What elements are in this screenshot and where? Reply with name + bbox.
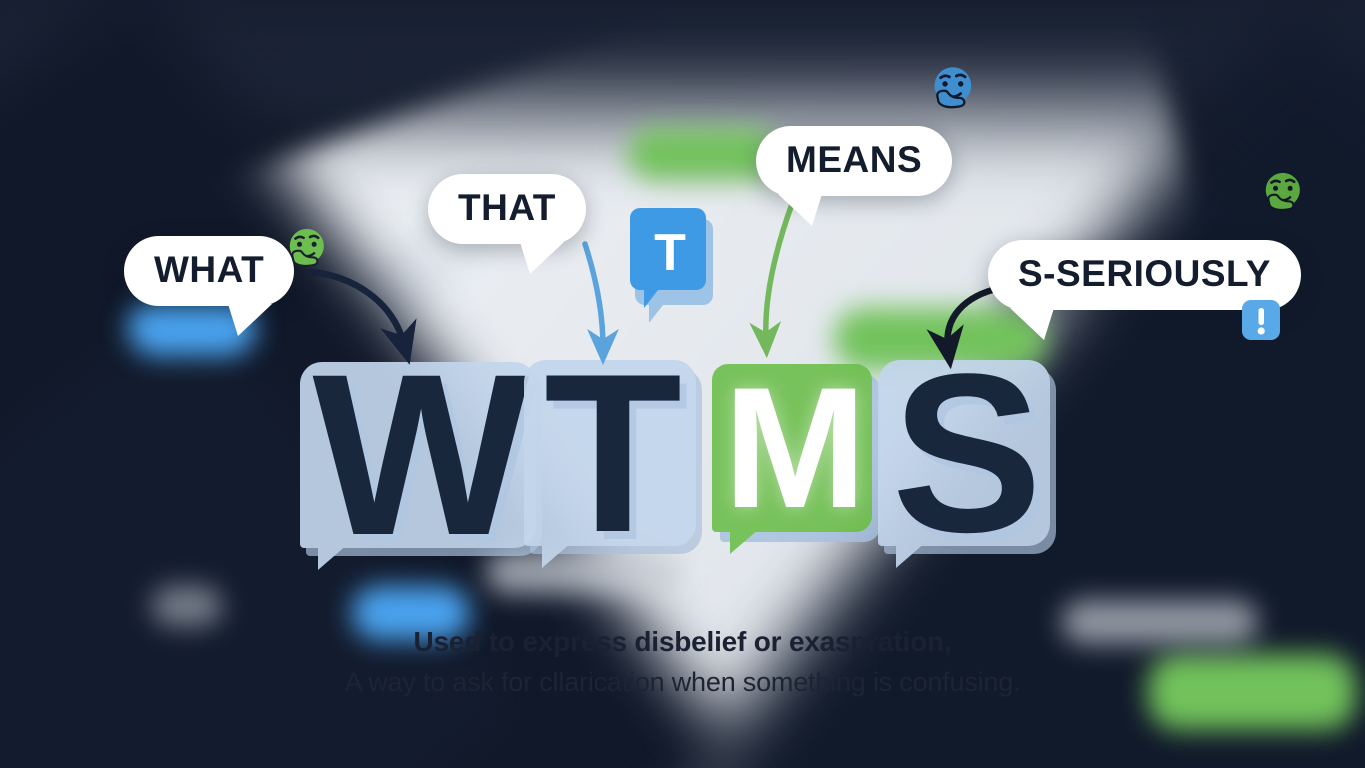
bubble-tail (228, 304, 272, 336)
letter-glyph-w: W (300, 362, 536, 548)
acronym-letter-t: T (524, 360, 696, 546)
letter-glyph-s: S (878, 360, 1050, 546)
bubble-tail (778, 194, 822, 226)
caption-line-1: Used to express disbelief or exaspration… (0, 626, 1365, 658)
acronym-letter-m: M (712, 364, 872, 532)
caption-line-2: A way to ask for cllarication when somet… (0, 667, 1365, 698)
ghost-chat-text (152, 586, 222, 626)
svg-text:T: T (654, 224, 686, 282)
caption-block: Used to express disbelief or exaspration… (0, 626, 1365, 698)
chat-bubble-t-icon: T (630, 204, 714, 322)
thinking-face-emoji (1256, 168, 1308, 220)
speech-bubble-that-label: THAT (458, 187, 556, 228)
speech-bubble-what[interactable]: WHAT (124, 236, 294, 306)
speech-bubble-seriously-label: S-SERIOUSLY (1018, 253, 1271, 294)
bubble-tail (1010, 308, 1054, 340)
letter-glyph-m: M (712, 364, 872, 532)
bubble-tail (520, 242, 564, 274)
thinking-face-emoji (280, 224, 332, 276)
acronym-letter-w: W (300, 362, 536, 548)
ghost-chat-bubble (628, 128, 778, 180)
letter-glyph-t: T (524, 360, 696, 546)
acronym-letters: W T M S (0, 352, 1365, 582)
acronym-letter-s: S (878, 360, 1050, 546)
speech-bubble-that[interactable]: THAT (428, 174, 586, 244)
speech-bubble-what-label: WHAT (154, 249, 264, 290)
thinking-face-emoji (924, 62, 980, 118)
exclamation-mark-icon (1238, 296, 1284, 346)
infographic-canvas: W T M S (0, 0, 1365, 768)
speech-bubble-means[interactable]: MEANS (756, 126, 952, 196)
speech-bubble-means-label: MEANS (786, 139, 922, 180)
